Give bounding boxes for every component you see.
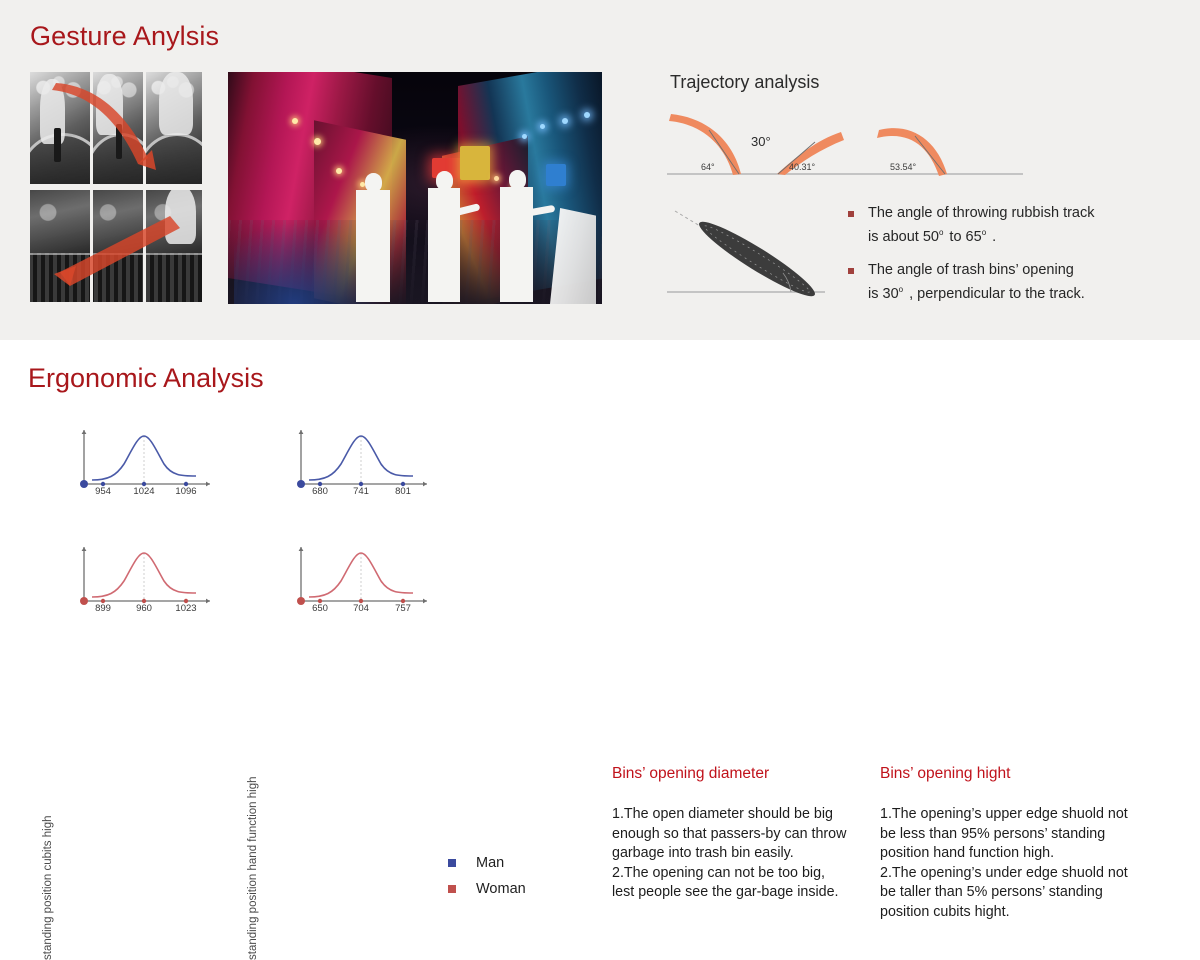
chart-cubits-woman: 899 960 1023 [76, 543, 216, 621]
neon-sign [460, 146, 490, 180]
person-shape [165, 190, 196, 244]
y-axis-arrow [82, 430, 87, 434]
tick-label: 1096 [175, 486, 196, 497]
chart-cubits-man: 954 1024 1096 [76, 426, 216, 504]
y-axis-arrow [82, 547, 87, 551]
bullet-text: The angle of trash bins’ opening is 30o … [868, 261, 1085, 304]
night-street-render [228, 72, 602, 304]
trash-bin-shape [146, 133, 202, 184]
collage-row-bottom [30, 190, 202, 302]
origin-marker [297, 597, 305, 605]
lantern-light [314, 138, 321, 145]
bin-opening-ellipse [694, 214, 821, 302]
tick-label: 757 [395, 603, 411, 614]
trajectory-arc-diagram [665, 102, 1025, 192]
bullet-item: The angle of throwing rubbish track is a… [848, 204, 1188, 247]
person-silhouette [428, 188, 460, 302]
person-silhouette [356, 190, 390, 302]
column-heading: Bins’ opening hight [880, 765, 1138, 783]
angle-label-opening: 30° [751, 134, 771, 149]
silhouette-head [509, 170, 526, 189]
person-silhouette [500, 187, 533, 302]
angle-label-2: 40.31° [789, 162, 815, 172]
silhouette-body [428, 188, 460, 302]
silhouette-head [436, 171, 453, 190]
column-body: 1.The opening’s upper edge shuold not be… [880, 805, 1138, 922]
bullet-marker-icon [848, 211, 854, 217]
gesture-photo-collage [30, 72, 202, 302]
x-axis-arrow [423, 599, 427, 604]
column-body: 1.The open diameter should be big enough… [612, 805, 850, 903]
bullet-line-1: The angle of throwing rubbish track [868, 205, 1095, 221]
lantern-light [584, 112, 590, 118]
trash-bin-shape [146, 253, 202, 302]
angle-leader-3 [915, 136, 945, 174]
text-column-opening-diameter: Bins’ opening diameter 1.The open diamet… [612, 765, 850, 903]
axis-label-cubits-high: standing position cubits high [42, 816, 54, 960]
y-axis-arrow [299, 547, 304, 551]
x-axis-arrow [206, 482, 210, 487]
origin-marker [80, 480, 88, 488]
bullet-line-2c: , perpendicular to the track. [905, 286, 1085, 302]
bullet-line-2a: is 30 [868, 286, 899, 302]
bullet-item: The angle of trash bins’ opening is 30o … [848, 261, 1188, 304]
legend-item-woman: Woman [448, 876, 526, 902]
x-axis-arrow [423, 482, 427, 487]
person-shape [40, 79, 65, 144]
tick-label: 650 [312, 603, 328, 614]
text-column-opening-height: Bins’ opening hight 1.The opening’s uppe… [880, 765, 1138, 922]
chart-handfunction-man: 680 741 801 [293, 426, 433, 504]
gesture-bullet-list: The angle of throwing rubbish track is a… [848, 204, 1188, 318]
collage-photo [30, 72, 90, 184]
collage-photo [146, 72, 202, 184]
collage-photo [93, 72, 143, 184]
tick-label: 680 [312, 486, 328, 497]
trash-bin-shape [30, 253, 90, 302]
bullet-line-2a: is about 50 [868, 229, 939, 245]
lantern-light [562, 118, 568, 124]
collage-row-top [30, 72, 202, 184]
chart-legend: Man Woman [448, 850, 526, 902]
origin-marker [297, 480, 305, 488]
tick-label: 899 [95, 603, 111, 614]
lantern-light [292, 118, 298, 124]
axis-label-hand-function-high: standing position hand function high [247, 776, 259, 960]
y-axis-arrow [299, 430, 304, 434]
tick-label: 954 [95, 486, 111, 497]
x-axis-arrow [206, 599, 210, 604]
silhouette-body [356, 190, 390, 302]
ergonomic-analysis-section: Ergonomic Analysis standing position cub… [0, 340, 1200, 675]
tick-label: 741 [353, 486, 369, 497]
silhouette-head [365, 173, 382, 192]
collage-photo [30, 190, 90, 302]
neon-sign [546, 164, 566, 186]
gesture-section-title: Gesture Anylsis [30, 21, 219, 52]
angle-label-3: 53.54° [890, 162, 916, 172]
collage-photo [93, 190, 143, 302]
legend-label: Woman [476, 881, 526, 897]
bin-opening-angle-diagram [665, 197, 845, 302]
bullet-line-2b: to 65 [945, 229, 981, 245]
gesture-analysis-section: Gesture Anylsis [0, 0, 1200, 340]
silhouette-body [500, 187, 533, 302]
origin-marker [80, 597, 88, 605]
collage-photo [146, 190, 202, 302]
leg-shape [116, 124, 122, 160]
tick-label: 960 [136, 603, 152, 614]
bullet-marker-icon [848, 268, 854, 274]
trajectory-title: Trajectory analysis [670, 72, 819, 93]
leg-shape [54, 128, 61, 162]
angle-label-1: 64° [701, 162, 715, 172]
legend-item-man: Man [448, 850, 526, 876]
legend-swatch-icon [448, 859, 456, 867]
lantern-light [540, 124, 545, 129]
chart-handfunction-woman: 650 704 757 [293, 543, 433, 621]
tick-label: 1023 [175, 603, 196, 614]
lantern-light [522, 134, 527, 139]
lantern-light [494, 176, 499, 181]
bullet-text: The angle of throwing rubbish track is a… [868, 204, 1095, 247]
trash-bin-shape [93, 253, 143, 302]
column-heading: Bins’ opening diameter [612, 765, 850, 783]
tick-label: 1024 [133, 486, 154, 497]
legend-swatch-icon [448, 885, 456, 893]
bullet-line-1: The angle of trash bins’ opening [868, 262, 1074, 278]
ergonomic-section-title: Ergonomic Analysis [28, 363, 264, 394]
person-shape [159, 72, 193, 135]
tick-label: 704 [353, 603, 369, 614]
bullet-line-2c: . [988, 229, 996, 245]
legend-label: Man [476, 855, 504, 871]
lantern-light [336, 168, 342, 174]
tick-label: 801 [395, 486, 411, 497]
